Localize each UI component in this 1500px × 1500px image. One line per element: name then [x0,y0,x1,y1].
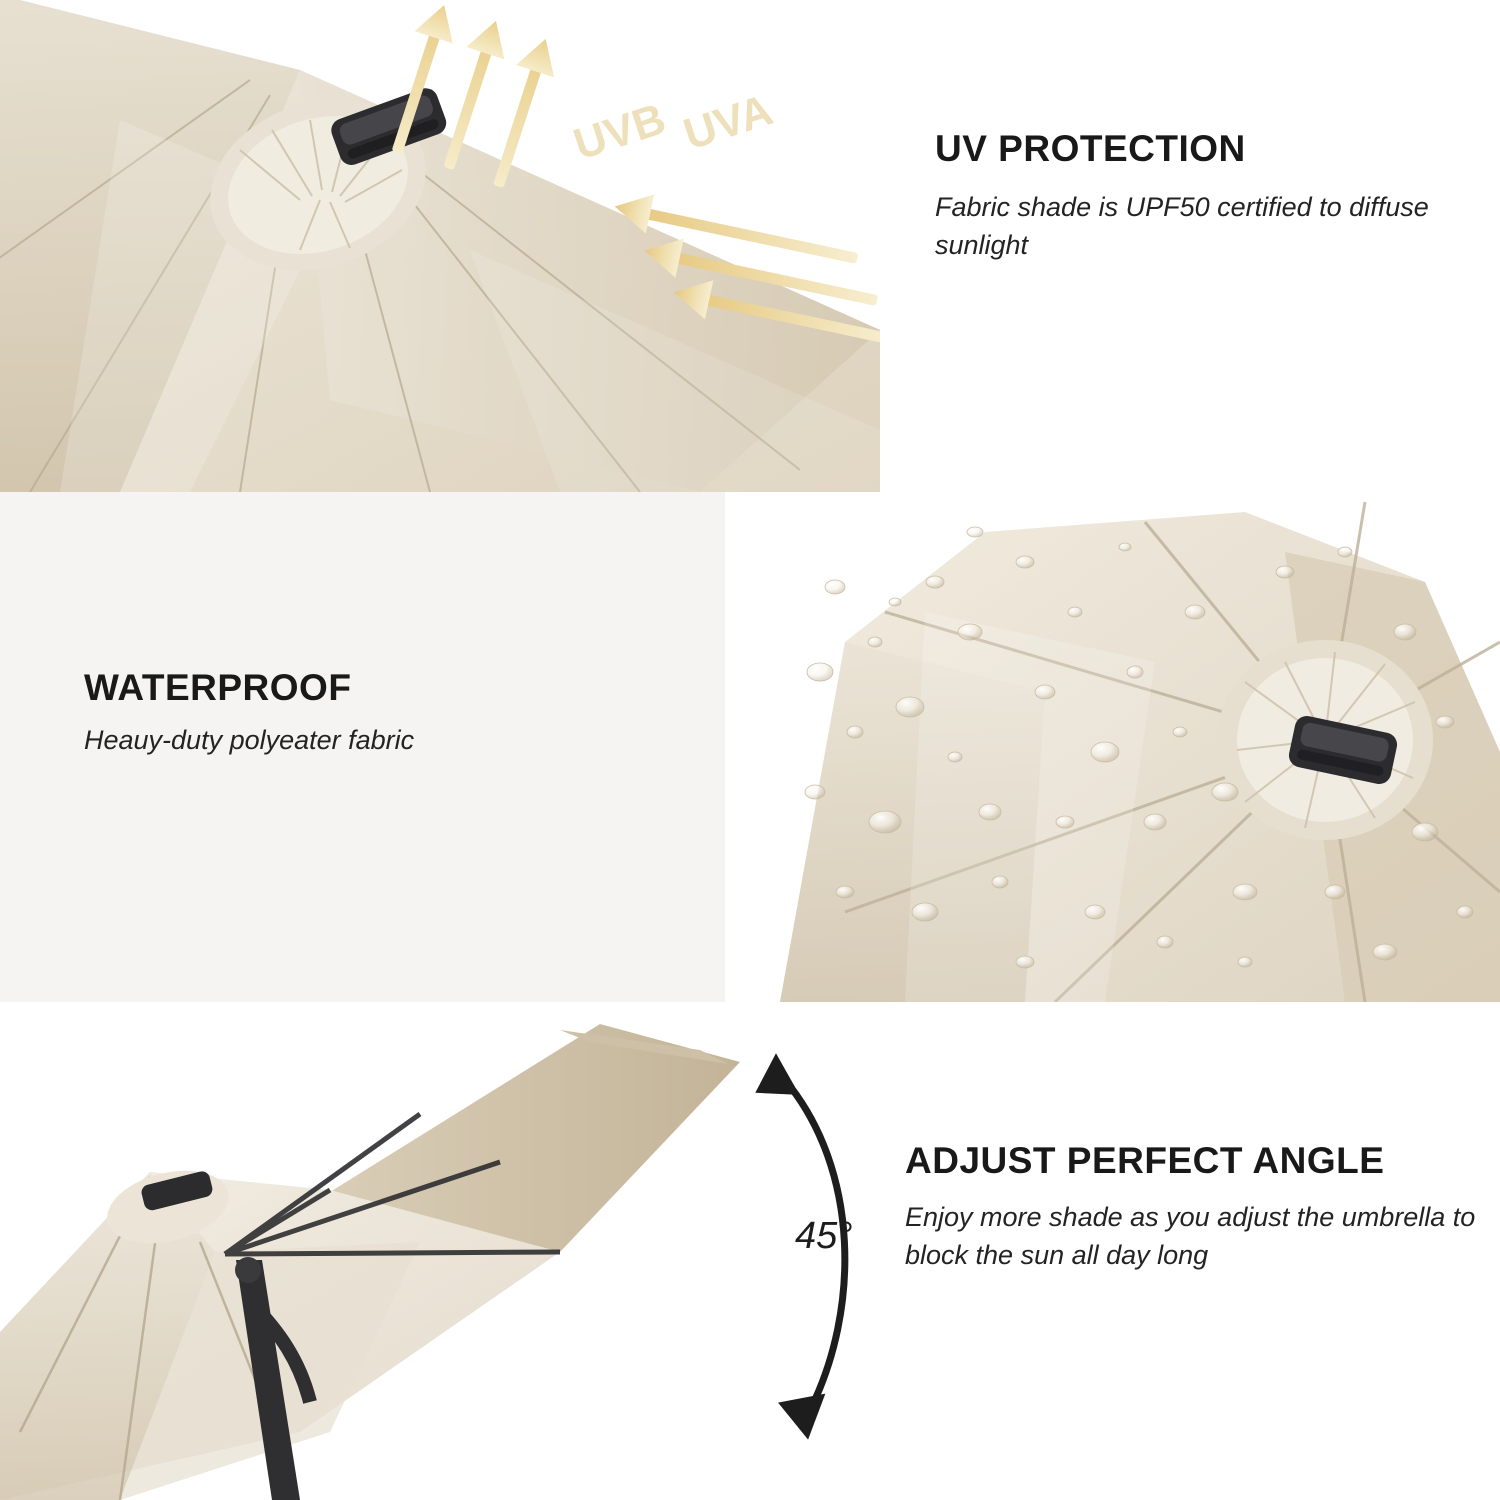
waterproof-title: WATERPROOF [84,667,684,709]
uva-label: UVA [678,85,778,159]
canopy-hub-wet [1217,640,1433,840]
waterproof-subtitle: Heauy-duty polyeater fabric [84,725,684,756]
uv-protection-title: UV PROTECTION [935,128,1465,170]
adjust-angle-title: ADJUST PERFECT ANGLE [905,1140,1485,1182]
waterproof-text-block: WATERPROOF Heauy-duty polyeater fabric [84,667,684,756]
panel-uv-protection: UVB UVA Close-up of beige umbrella canop… [0,0,1500,492]
waterproof-photo: Beige umbrella canopy covered in water d… [725,492,1500,1002]
angle-value: 45° [795,1215,852,1258]
adjust-angle-text-block: ADJUST PERFECT ANGLE Enjoy more shade as… [905,1140,1485,1275]
uv-protection-subtitle: Fabric shade is UPF50 certified to diffu… [935,188,1465,265]
umbrella-canopy-illustration: UVB UVA [0,0,880,492]
infographic-page: UVB UVA Close-up of beige umbrella canop… [0,0,1500,1500]
wet-canopy-illustration [725,492,1500,1002]
adjust-angle-photo: Tilted beige umbrella showing 45 degree … [0,1002,760,1500]
uvb-label: UVB [568,94,672,169]
uv-protection-photo: UVB UVA Close-up of beige umbrella canop… [0,0,880,492]
uv-protection-text-block: UV PROTECTION Fabric shade is UPF50 cert… [935,128,1465,265]
tilted-umbrella-illustration [0,1002,760,1500]
adjust-angle-subtitle: Enjoy more shade as you adjust the umbre… [905,1198,1485,1275]
panel-waterproof: WATERPROOF Heauy-duty polyeater fabric [0,492,1500,1002]
